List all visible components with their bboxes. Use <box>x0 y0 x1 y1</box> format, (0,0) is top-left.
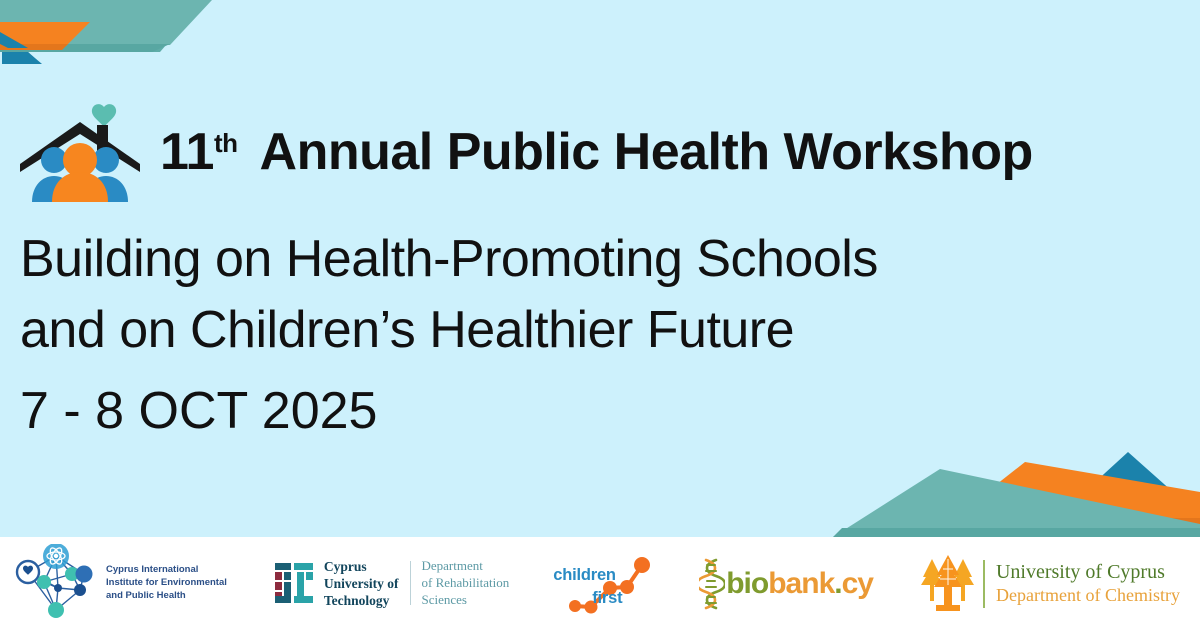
deco-top-blue-triangle <box>0 26 40 63</box>
node-dark <box>74 584 86 596</box>
logo-cii-text: Cyprus International Institute for Envir… <box>106 564 227 602</box>
logo-children-first: children first <box>553 552 661 616</box>
cut-dept-line-2: of Rehabilitation <box>422 575 510 592</box>
deco-top-orange-main <box>0 22 90 46</box>
page-title: 11th Annual Public Health Workshop <box>160 126 1033 178</box>
logo-ucy-divider <box>983 560 985 608</box>
subtitle-line-1: Building on Health-Promoting Schools <box>20 224 878 295</box>
event-dateline: 7 - 8 OCT 2025 <box>20 381 377 441</box>
cut-name-line-2: University of <box>324 575 399 592</box>
house-family-heart-icon <box>18 98 142 202</box>
deco-top-blue-main <box>0 32 28 48</box>
deco-top-orange-front <box>0 24 90 45</box>
logo-cut-department: Department of Rehabilitation Sciences <box>422 558 510 609</box>
deco-top-orange-lower <box>0 24 92 48</box>
cii-line-3: and Public Health <box>106 590 227 603</box>
logo-university-of-cyprus: University of Cyprus Department of Chemi… <box>919 553 1180 615</box>
cut-dept-line-1: Department <box>422 558 510 575</box>
deco-bottom-teal-shadow <box>833 528 1200 537</box>
biobank-part-bank: bank <box>768 567 834 600</box>
subtitle-line-2: and on Children’s Healthier Future <box>20 295 878 366</box>
biobank-text: biobank.cy <box>726 567 873 601</box>
deco-top-teal-shape <box>0 0 205 47</box>
node-factory <box>76 565 93 582</box>
deco-top-orange-shape <box>0 20 90 47</box>
deco-bottom-blue-triangle <box>1058 452 1200 516</box>
logo-cut-divider <box>410 561 411 605</box>
cut-name-line-1: Cyprus <box>324 558 399 575</box>
subtitle: Building on Health-Promoting Schools and… <box>20 224 878 365</box>
network-nodes-icon <box>14 544 98 624</box>
node-green-a <box>37 575 51 589</box>
deco-top-orange-long <box>0 22 88 47</box>
children-first-word-2: first <box>592 589 622 608</box>
cut-dept-line-3: Sciences <box>422 592 510 609</box>
deco-bottom-teal-band <box>833 469 1200 537</box>
poster-canvas: 11th Annual Public Health Workshop Build… <box>0 0 1200 630</box>
heart-icon <box>92 104 116 127</box>
logo-ucy-text: University of Cyprus Department of Chemi… <box>996 560 1180 607</box>
title-text: Annual Public Health Workshop <box>260 126 1033 178</box>
title-row: 11th Annual Public Health Workshop <box>18 104 1033 200</box>
deco-top-blue-triangle-2 <box>2 30 42 64</box>
cut-monogram-icon <box>273 561 315 605</box>
deco-top-teal-over <box>0 0 210 46</box>
ucy-department: Department of Chemistry <box>996 584 1180 607</box>
logo-cyprus-university-of-technology: Cyprus University of Technology Departme… <box>273 558 509 610</box>
person-center-head <box>63 143 97 177</box>
logo-cyprus-international-institute: Cyprus International Institute for Envir… <box>14 544 227 624</box>
ordinal-number: 11 <box>160 126 214 178</box>
node-bottom <box>48 602 64 618</box>
ucy-name: University of Cyprus <box>996 560 1180 584</box>
sponsor-logo-bar: Cyprus International Institute for Envir… <box>0 537 1200 630</box>
dna-helix-icon <box>699 556 725 612</box>
cii-line-1: Cyprus International <box>106 564 227 577</box>
ordinal-suffix: th <box>214 130 238 156</box>
deco-bottom-orange-band <box>950 462 1200 521</box>
node-mid <box>54 584 62 592</box>
deco-bottom-orange-shadow <box>952 518 1200 530</box>
deco-top-orange-shadow <box>0 44 68 50</box>
biobank-part-dot: . <box>834 567 841 600</box>
children-first-word-1: children <box>553 566 616 585</box>
tree-emblem-icon <box>919 553 977 615</box>
deco-top-blue-front <box>0 30 32 46</box>
logo-biobank-cy: biobank.cy <box>699 556 873 612</box>
deco-top-teal-edge <box>0 0 205 52</box>
deco-top-teal-shadow <box>0 44 170 52</box>
person-center-body <box>52 172 108 202</box>
biobank-part-bio: bio <box>726 567 768 600</box>
deco-top-orange-wedge <box>0 20 86 48</box>
biobank-part-cy: cy <box>842 567 873 600</box>
cut-name-line-3: Technology <box>324 592 399 609</box>
cii-line-2: Institute for Environmental <box>106 577 227 590</box>
logo-cut-name: Cyprus University of Technology <box>324 558 399 610</box>
deco-top-teal-main <box>0 0 212 45</box>
